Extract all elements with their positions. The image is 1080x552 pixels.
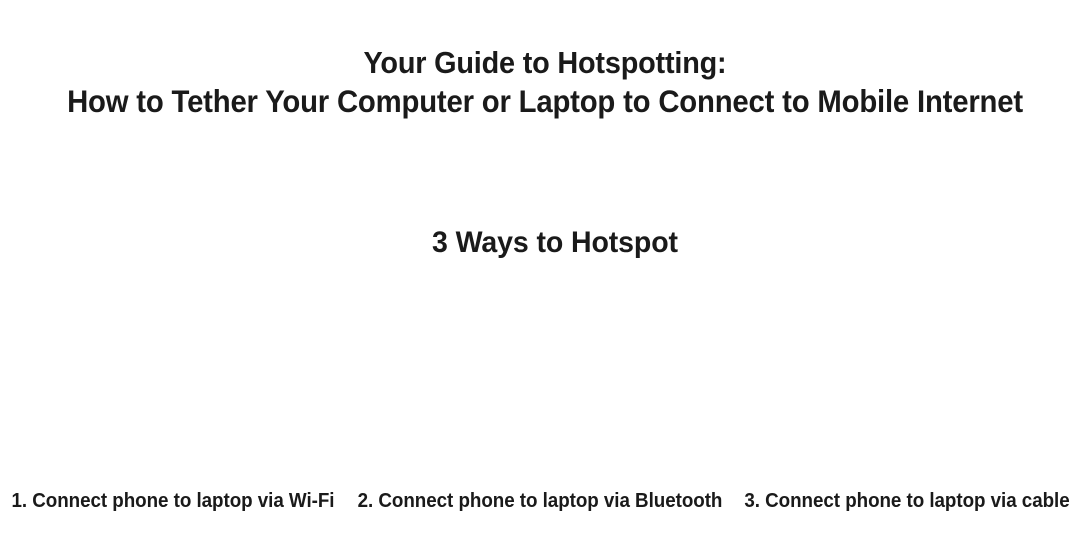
method-figure-3 — [720, 282, 1080, 478]
infographic-page: Your Guide to Hotspotting: How to Tether… — [0, 0, 1080, 552]
method-caption-1: 1. Connect phone to laptop via Wi-Fi — [10, 488, 335, 514]
page-title-line-2: How to Tether Your Computer or Laptop to… — [38, 82, 1052, 120]
methods-illustration-row — [0, 282, 1080, 478]
section-heading: 3 Ways to Hotspot — [28, 225, 1080, 261]
page-title: Your Guide to Hotspotting: How to Tether… — [0, 44, 1080, 120]
method-caption-3: 3. Connect phone to laptop via cable — [744, 488, 1069, 514]
cable-tethering-illustration — [720, 282, 1080, 478]
bluetooth-tethering-illustration — [360, 282, 720, 478]
method-figure-1 — [0, 282, 360, 478]
methods-caption-row: 1. Connect phone to laptop via Wi-Fi 2. … — [0, 488, 1080, 516]
wifi-tethering-illustration — [0, 282, 360, 478]
method-figure-2 — [360, 282, 720, 478]
page-title-line-1: Your Guide to Hotspotting: — [38, 44, 1052, 82]
method-caption-2: 2. Connect phone to laptop via Bluetooth — [358, 488, 723, 514]
